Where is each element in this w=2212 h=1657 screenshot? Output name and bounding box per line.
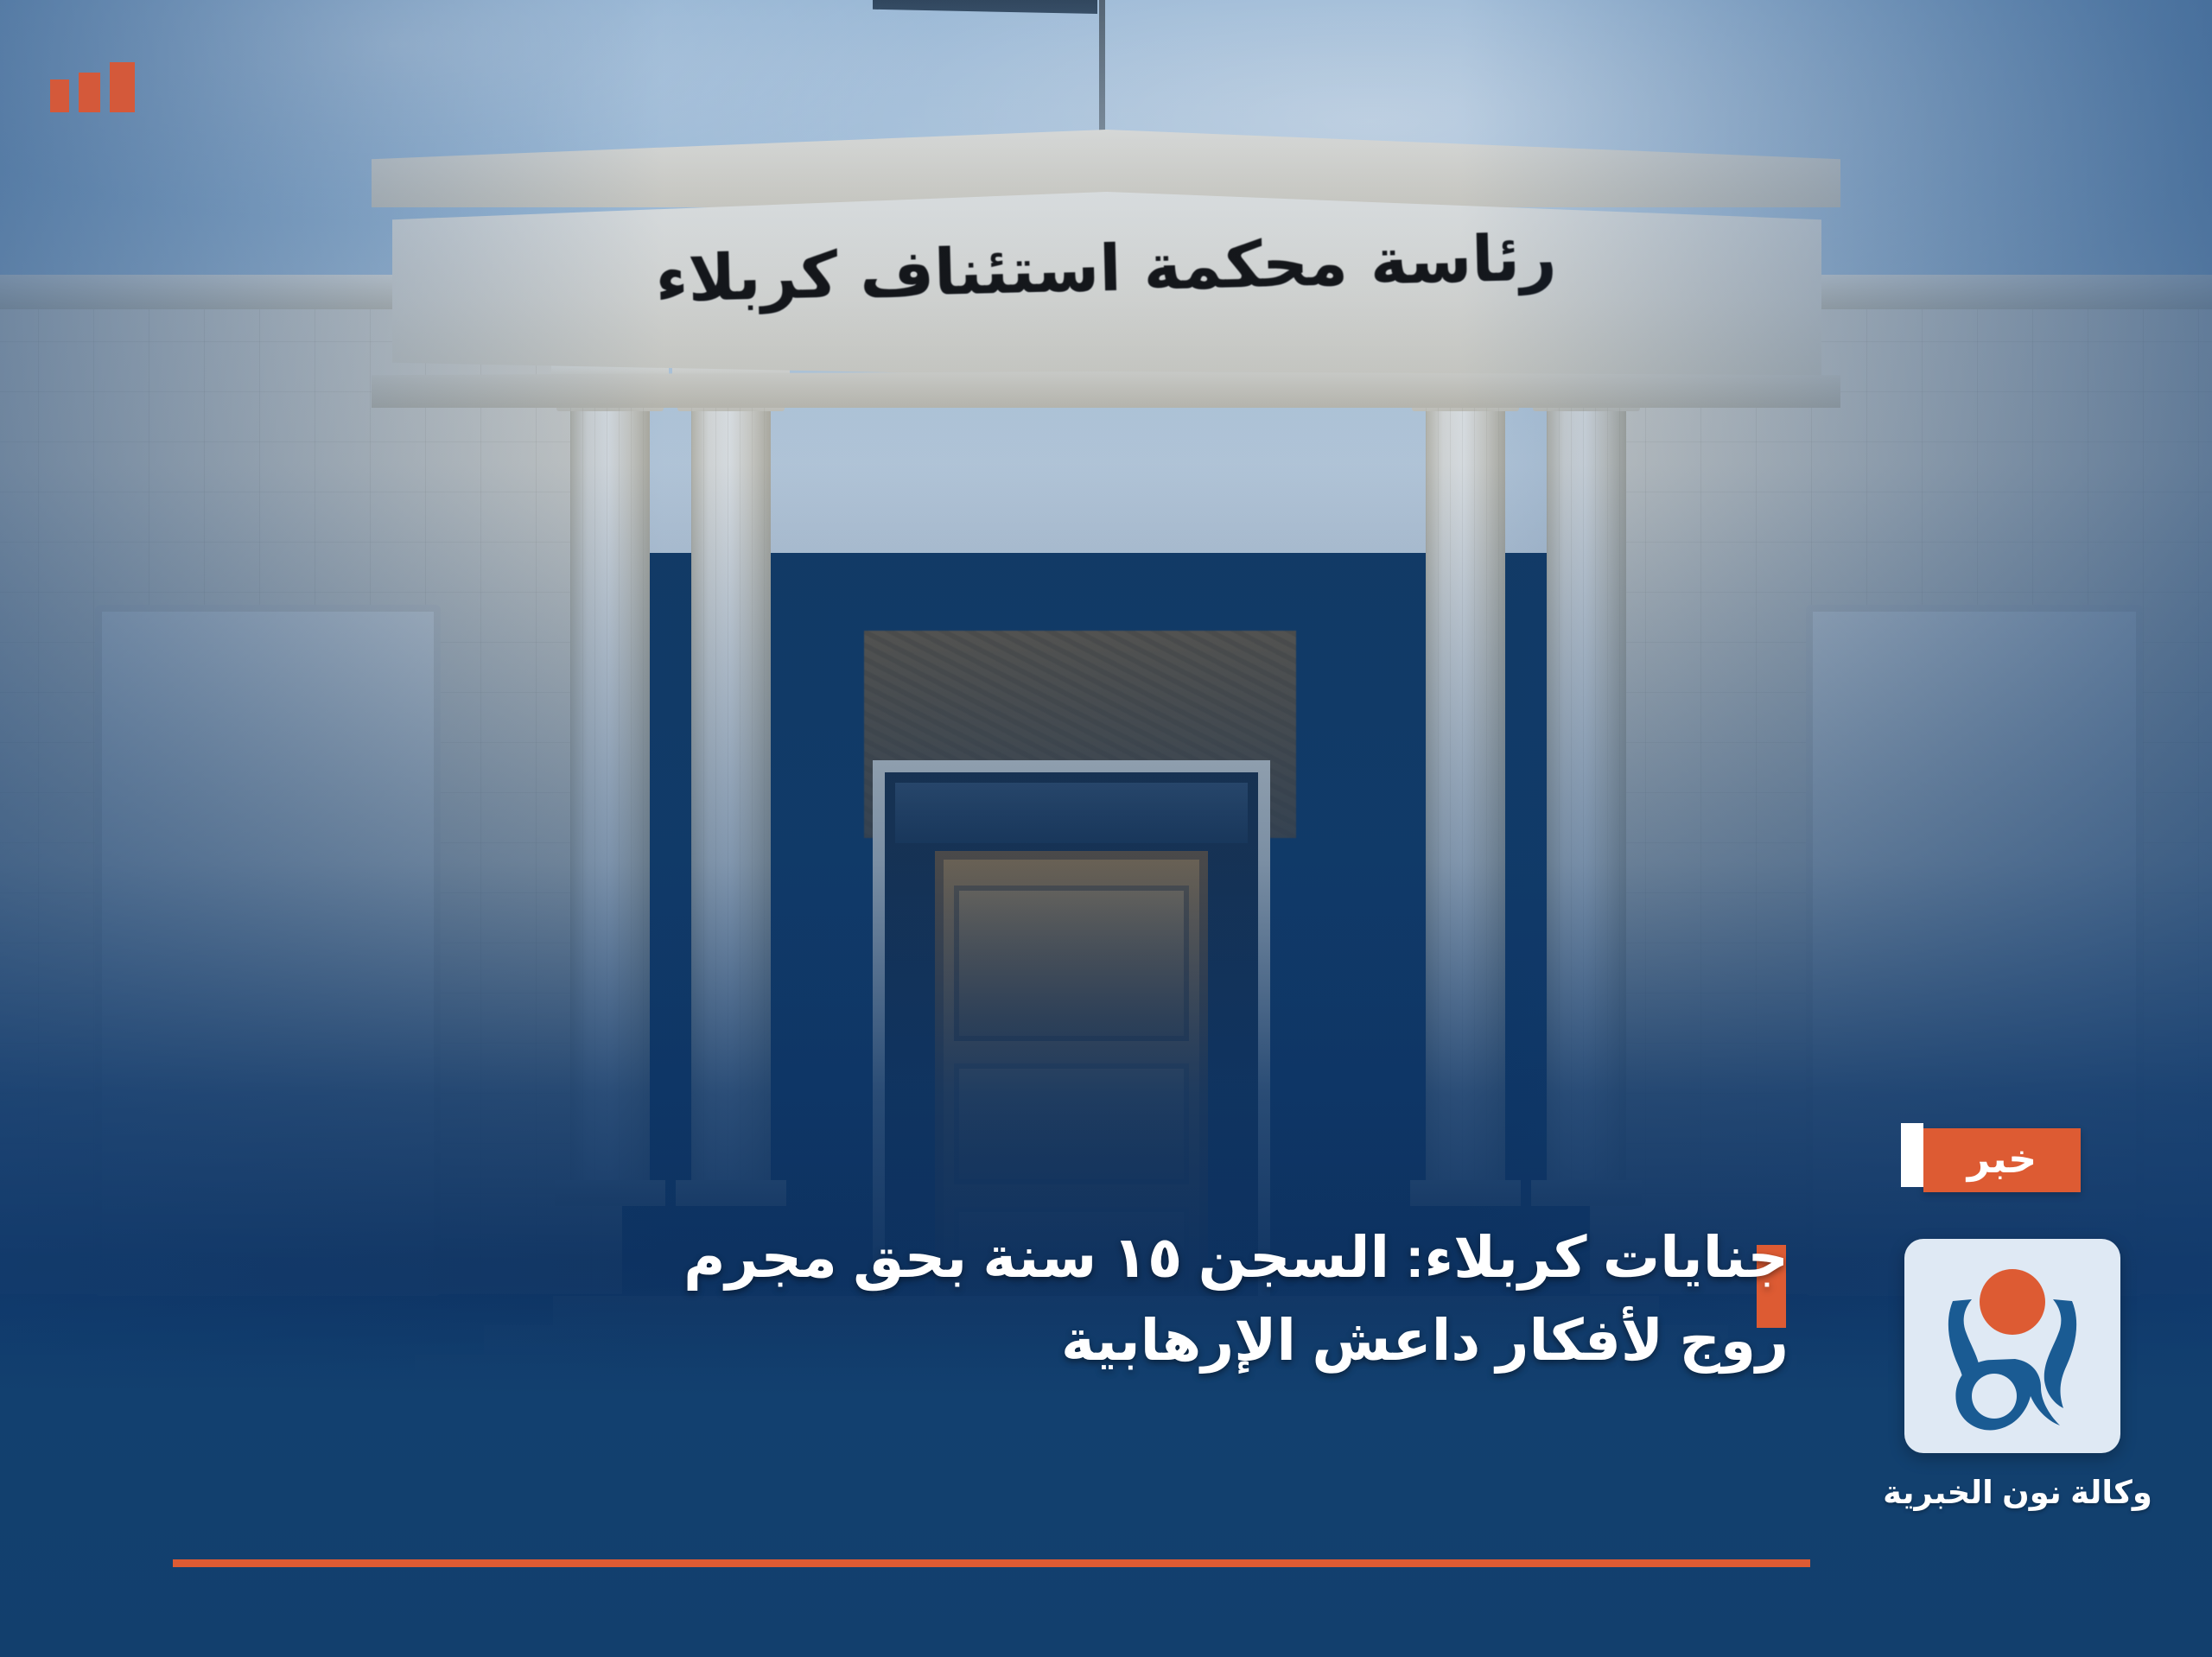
- bar-chart-bar-1: [110, 62, 135, 112]
- headline-line-1: جنايات كربلاء: السجن ١٥ سنة بحق مجرم: [389, 1216, 1789, 1299]
- headline: جنايات كربلاء: السجن ١٥ سنة بحق مجرم روج…: [389, 1216, 1789, 1381]
- news-card: رئاسة محكمة استئناف كربلاء خبر وكالة نون…: [0, 0, 2212, 1657]
- news-badge-label: خبر: [1923, 1128, 2081, 1192]
- bar-chart-bar-2: [79, 73, 100, 112]
- bar-chart-bar-3: [50, 79, 69, 112]
- headline-line-2: روج لأفكار داعش الإرهابية: [389, 1299, 1789, 1382]
- news-badge[interactable]: خبر: [1901, 1128, 2081, 1192]
- background-photo: رئاسة محكمة استئناف كربلاء: [0, 0, 2212, 1657]
- bar-chart-mark-icon: [31, 60, 135, 112]
- agency-name: وكالة نون الخبرية: [1849, 1474, 2186, 1511]
- news-badge-tick: [1901, 1123, 1923, 1187]
- orange-divider-rule: [173, 1559, 1810, 1567]
- noon-agency-logo-icon[interactable]: [1904, 1239, 2120, 1453]
